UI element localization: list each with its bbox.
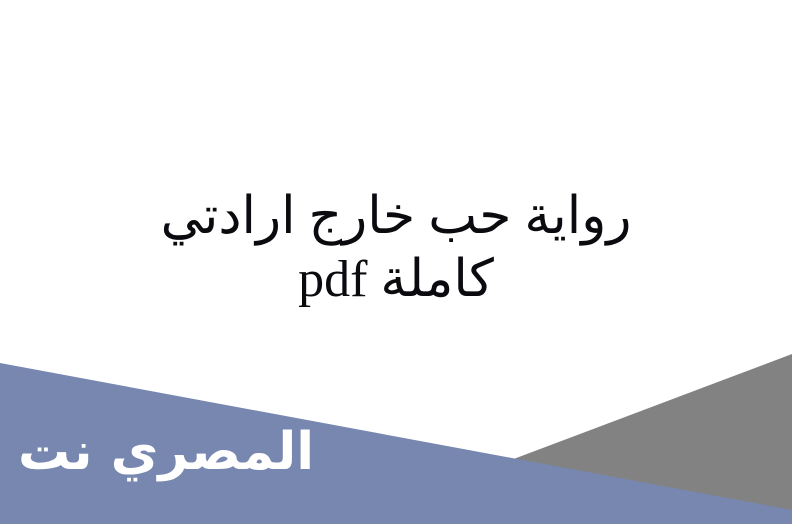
background-shapes bbox=[0, 0, 792, 524]
cover-canvas: رواية حب خارج ارادتي كاملة pdf المصري نت bbox=[0, 0, 792, 524]
